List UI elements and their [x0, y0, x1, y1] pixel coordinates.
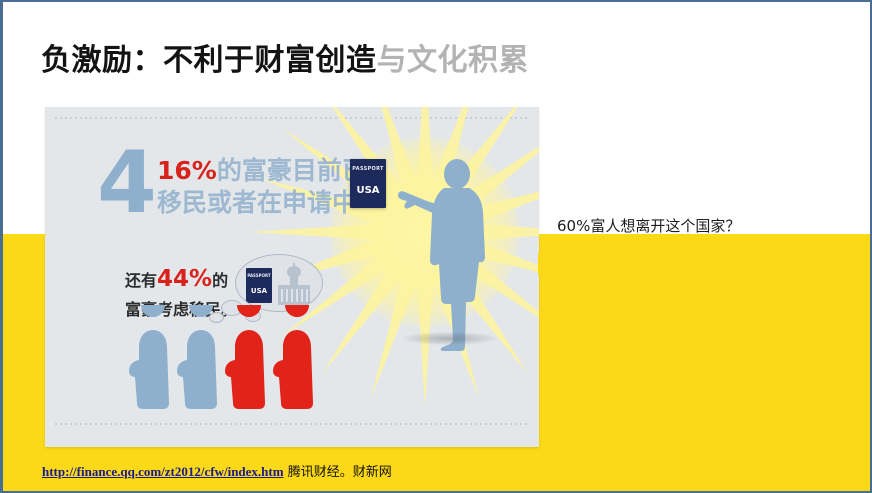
thought-bubble-graphic: PASSPORT USA [235, 254, 321, 310]
pointing-man-shadow [403, 332, 497, 345]
slide-canvas: 负激励：不利于财富创造与文化积累 60%富人想离开这个国家？ [0, 0, 872, 493]
subtext-prefix: 还有 [125, 271, 157, 290]
page-title-gray: 与文化积累 [377, 43, 530, 78]
infographic-headline: 16%的富豪目前已 移民或者在申请中 [157, 155, 367, 219]
subtext-suffix: 的 [212, 271, 228, 290]
panel-dotted-rule-top [55, 117, 529, 119]
passport-label-top: PASSPORT [350, 166, 386, 172]
right-caption-text: 60%富人想离开这个国家？ [557, 215, 740, 236]
page-title-dark: 负激励：不利于财富创造 [41, 43, 377, 78]
person-silhouette-red-1 [225, 305, 265, 409]
passport-label-country: USA [350, 185, 386, 196]
source-url-link[interactable]: http://finance.qq.com/zt2012/cfw/index.h… [42, 464, 284, 479]
thought-passport-label-top: PASSPORT [246, 273, 272, 278]
person-silhouette-blue-2 [177, 305, 217, 409]
thought-passport-label-country: USA [246, 287, 272, 295]
person-silhouette-red-2 [273, 305, 313, 409]
pointing-man-silhouette-icon [395, 152, 515, 352]
passport-icon: PASSPORT USA [350, 159, 386, 208]
yellow-band-right-extension [538, 254, 870, 274]
capitol-building-icon [276, 263, 312, 305]
infographic-panel: 4 16%的富豪目前已 移民或者在申请中 还有44%的 富豪考虑移民。 PASS… [45, 107, 539, 447]
person-silhouette-blue-1 [129, 305, 169, 409]
source-attribution-text: 腾讯财经。财新网 [284, 465, 392, 480]
footer-source-line: http://finance.qq.com/zt2012/cfw/index.h… [42, 461, 392, 480]
headline-line1-rest: 的富豪目前已 [217, 156, 367, 185]
headline-line2: 移民或者在申请中 [157, 187, 367, 219]
panel-dotted-rule-bottom [55, 423, 529, 425]
page-title: 负激励：不利于财富创造与文化积累 [41, 44, 529, 77]
infographic-item-number: 4 [97, 145, 157, 222]
thought-bubble-passport-icon: PASSPORT USA [246, 268, 272, 303]
headline-percent-value: 16% [157, 156, 217, 185]
subtext-percent-value: 44% [157, 266, 212, 292]
people-silhouette-group [123, 305, 333, 417]
